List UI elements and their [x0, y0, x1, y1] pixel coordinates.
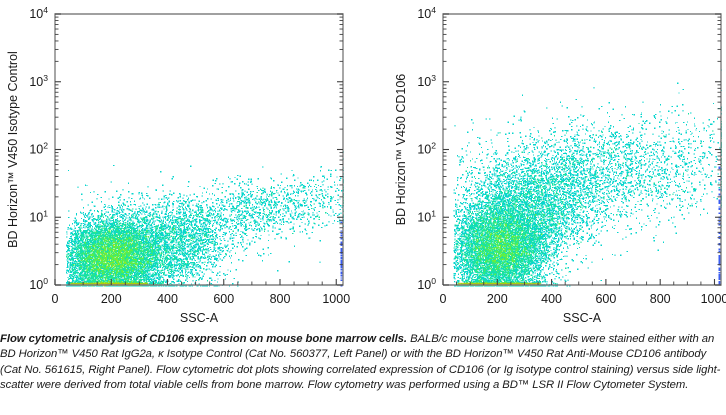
- svg-text:400: 400: [541, 292, 562, 306]
- left-plot-axes: 02004006008001000100101102103104: [29, 5, 350, 306]
- caption-lead: Flow cytometric analysis of CD106 expres…: [0, 333, 407, 345]
- figure-caption: Flow cytometric analysis of CD106 expres…: [0, 332, 726, 394]
- svg-text:BD Horizon™ V450 Isotype Contr: BD Horizon™ V450 Isotype Control: [6, 51, 20, 248]
- svg-text:400: 400: [157, 292, 178, 306]
- svg-text:103: 103: [417, 73, 436, 89]
- svg-text:104: 104: [29, 5, 48, 21]
- left-plot-svg: 02004006008001000100101102103104 SSC-A B…: [0, 0, 363, 330]
- svg-text:BD Horizon™ V450 CD106: BD Horizon™ V450 CD106: [394, 74, 408, 226]
- svg-text:102: 102: [417, 141, 436, 157]
- svg-text:102: 102: [29, 141, 48, 157]
- left-dot-plot-panel: 02004006008001000100101102103104 SSC-A B…: [0, 0, 363, 330]
- svg-text:0: 0: [440, 292, 447, 306]
- svg-text:0: 0: [52, 292, 59, 306]
- svg-text:1000: 1000: [322, 292, 350, 306]
- svg-text:100: 100: [29, 276, 48, 292]
- left-y-axis-title: BD Horizon™ V450 Isotype Control: [6, 51, 20, 248]
- right-plot-scatter-layer: [453, 69, 722, 286]
- right-dot-plot-panel: 02004006008001000100101102103104 SSC-A B…: [363, 0, 726, 330]
- svg-text:104: 104: [417, 5, 436, 21]
- svg-text:800: 800: [270, 292, 291, 306]
- svg-text:100: 100: [417, 276, 436, 292]
- right-x-axis-title: SSC-A: [563, 311, 602, 325]
- right-y-axis-title: BD Horizon™ V450 CD106: [394, 74, 408, 226]
- svg-text:600: 600: [595, 292, 616, 306]
- figure-container: 02004006008001000100101102103104 SSC-A B…: [0, 0, 726, 415]
- svg-text:1000: 1000: [701, 292, 726, 306]
- right-plot-svg: 02004006008001000100101102103104 SSC-A B…: [363, 0, 726, 330]
- svg-text:101: 101: [29, 208, 48, 224]
- svg-text:800: 800: [650, 292, 671, 306]
- svg-text:200: 200: [101, 292, 122, 306]
- left-plot-scatter-layer: [66, 151, 344, 286]
- left-x-axis-title: SSC-A: [180, 311, 219, 325]
- svg-text:103: 103: [29, 73, 48, 89]
- svg-text:101: 101: [417, 208, 436, 224]
- svg-text:200: 200: [487, 292, 508, 306]
- svg-text:600: 600: [213, 292, 234, 306]
